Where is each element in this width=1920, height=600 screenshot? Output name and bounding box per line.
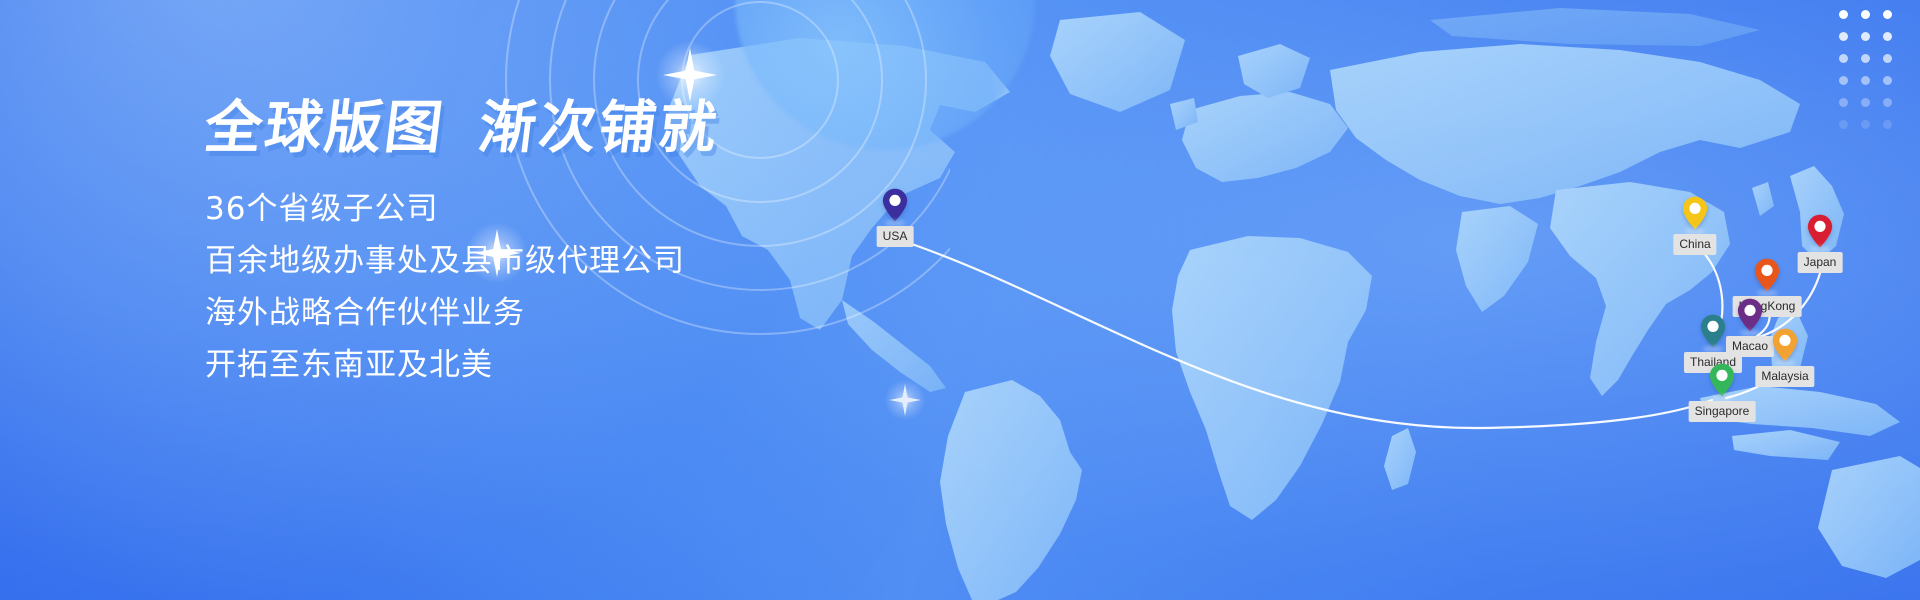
- location-pin-icon: [1754, 258, 1780, 292]
- map-marker-macao[interactable]: Macao: [1737, 298, 1763, 332]
- map-marker-china[interactable]: China: [1682, 196, 1708, 230]
- dot-grid-dot: [1883, 120, 1892, 129]
- headline-part-1: 全球版图: [201, 95, 449, 161]
- subtitle-line-3: 海外战略合作伙伴业务: [205, 287, 965, 339]
- map-marker-japan[interactable]: Japan: [1807, 214, 1833, 248]
- dot-grid-dot: [1839, 54, 1848, 63]
- map-marker-usa[interactable]: USA: [882, 188, 908, 222]
- dot-grid-dot: [1861, 10, 1870, 19]
- subtitle-list: 36个省级子公司 百余地级办事处及县市级代理公司 海外战略合作伙伴业务 开拓至东…: [205, 183, 965, 391]
- map-marker-singapore[interactable]: Singapore: [1709, 363, 1735, 397]
- headline-part-2: 渐次铺就: [475, 95, 723, 161]
- dot-grid-dot: [1883, 76, 1892, 85]
- subtitle-line-2: 百余地级办事处及县市级代理公司: [205, 235, 965, 287]
- dot-grid-dot: [1861, 54, 1870, 63]
- dot-grid-dot: [1839, 120, 1848, 129]
- dot-grid-dot: [1883, 98, 1892, 107]
- dot-grid-pattern: [1839, 10, 1892, 129]
- location-pin-icon: [1737, 298, 1763, 332]
- banner-text-block: 全球版图渐次铺就 36个省级子公司 百余地级办事处及县市级代理公司 海外战略合作…: [205, 100, 965, 391]
- dot-grid-dot: [1839, 32, 1848, 41]
- marker-label-chip: Singapore: [1689, 401, 1756, 422]
- map-marker-thailand[interactable]: Thailand: [1700, 314, 1726, 348]
- marker-label-chip: Malaysia: [1755, 366, 1814, 387]
- location-pin-icon: [1772, 328, 1798, 362]
- dot-grid-dot: [1883, 54, 1892, 63]
- marker-label-chip: China: [1673, 234, 1716, 255]
- dot-grid-dot: [1883, 10, 1892, 19]
- location-pin-icon: [1807, 214, 1833, 248]
- location-pin-icon: [1682, 196, 1708, 230]
- location-pin-icon: [882, 188, 908, 222]
- subtitle-line-1: 36个省级子公司: [205, 183, 965, 235]
- marker-label-chip: Japan: [1798, 252, 1843, 273]
- map-marker-hongkong[interactable]: HongKong: [1754, 258, 1780, 292]
- dot-grid-dot: [1839, 98, 1848, 107]
- dot-grid-dot: [1861, 76, 1870, 85]
- dot-grid-dot: [1839, 76, 1848, 85]
- dot-grid-dot: [1861, 98, 1870, 107]
- global-footprint-banner: 全球版图渐次铺就 36个省级子公司 百余地级办事处及县市级代理公司 海外战略合作…: [0, 0, 1920, 600]
- dot-grid-dot: [1861, 32, 1870, 41]
- marker-label-chip: USA: [877, 226, 914, 247]
- page-title: 全球版图渐次铺就: [202, 100, 969, 157]
- dot-grid-dot: [1883, 32, 1892, 41]
- subtitle-line-4: 开拓至东南亚及北美: [205, 339, 965, 391]
- dot-grid-dot: [1839, 10, 1848, 19]
- dot-grid-dot: [1861, 120, 1870, 129]
- map-marker-malaysia[interactable]: Malaysia: [1772, 328, 1798, 362]
- location-pin-icon: [1700, 314, 1726, 348]
- location-pin-icon: [1709, 363, 1735, 397]
